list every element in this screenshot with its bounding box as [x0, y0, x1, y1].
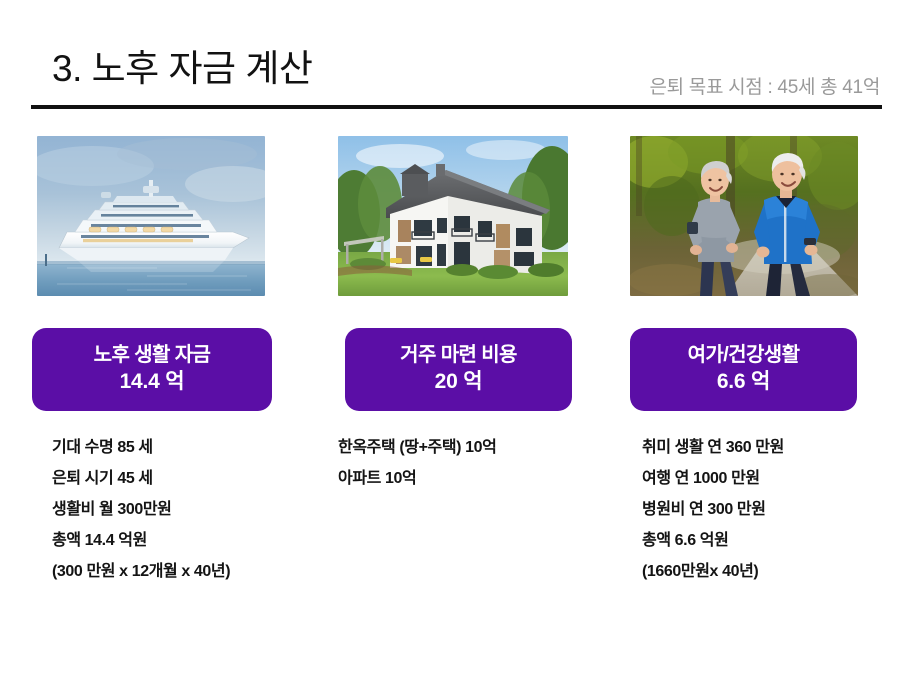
house-photo [338, 136, 568, 296]
page-title: 3. 노후 자금 계산 [52, 48, 312, 91]
badge-leisure-health: 여가/건강생활 6.6 억 [630, 328, 857, 411]
detail-line: 생활비 월 300만원 [52, 502, 230, 533]
badge-housing-cost: 거주 마련 비용 20 억 [345, 328, 572, 411]
slide-root: 3. 노후 자금 계산 은퇴 목표 시점 : 45세 총 41억 [0, 0, 912, 684]
retirement-goal-note: 은퇴 목표 시점 : 45세 총 41억 [649, 72, 880, 99]
title-divider [31, 105, 882, 109]
detail-line: 병원비 연 300 만원 [642, 502, 784, 533]
details-leisure-health: 취미 생활 연 360 만원 여행 연 1000 만원 병원비 연 300 만원… [642, 440, 784, 595]
detail-line: 취미 생활 연 360 만원 [642, 440, 784, 471]
detail-line: 한옥주택 (땅+주택) 10억 [338, 440, 496, 471]
detail-line: 여행 연 1000 만원 [642, 471, 784, 502]
detail-line: 아파트 10억 [338, 471, 496, 502]
senior-couple-jogging-photo [630, 136, 858, 296]
detail-line: (300 만원 x 12개월 x 40년) [52, 564, 230, 595]
columns-container: 노후 생활 자금 14.4 억 기대 수명 85 세 은퇴 시기 45 세 생활… [0, 112, 912, 684]
detail-line: (1660만원x 40년) [642, 564, 784, 595]
badge-amount: 20 억 [435, 369, 483, 395]
slide-header: 3. 노후 자금 계산 은퇴 목표 시점 : 45세 총 41억 [0, 0, 912, 112]
detail-line: 총액 6.6 억원 [642, 533, 784, 564]
detail-line: 총액 14.4 억원 [52, 533, 230, 564]
badge-amount: 14.4 억 [120, 369, 185, 395]
detail-line: 은퇴 시기 45 세 [52, 471, 230, 502]
details-housing-cost: 한옥주택 (땅+주택) 10억 아파트 10억 [338, 440, 496, 502]
badge-amount: 6.6 억 [717, 369, 770, 395]
badge-title: 여가/건강생활 [688, 343, 800, 368]
cruise-ship-photo [37, 136, 265, 296]
badge-retirement-living: 노후 생활 자금 14.4 억 [32, 328, 272, 411]
badge-title: 노후 생활 자금 [94, 343, 211, 368]
detail-line: 기대 수명 85 세 [52, 440, 230, 471]
badge-title: 거주 마련 비용 [400, 343, 517, 368]
details-retirement-living: 기대 수명 85 세 은퇴 시기 45 세 생활비 월 300만원 총액 14.… [52, 440, 230, 595]
